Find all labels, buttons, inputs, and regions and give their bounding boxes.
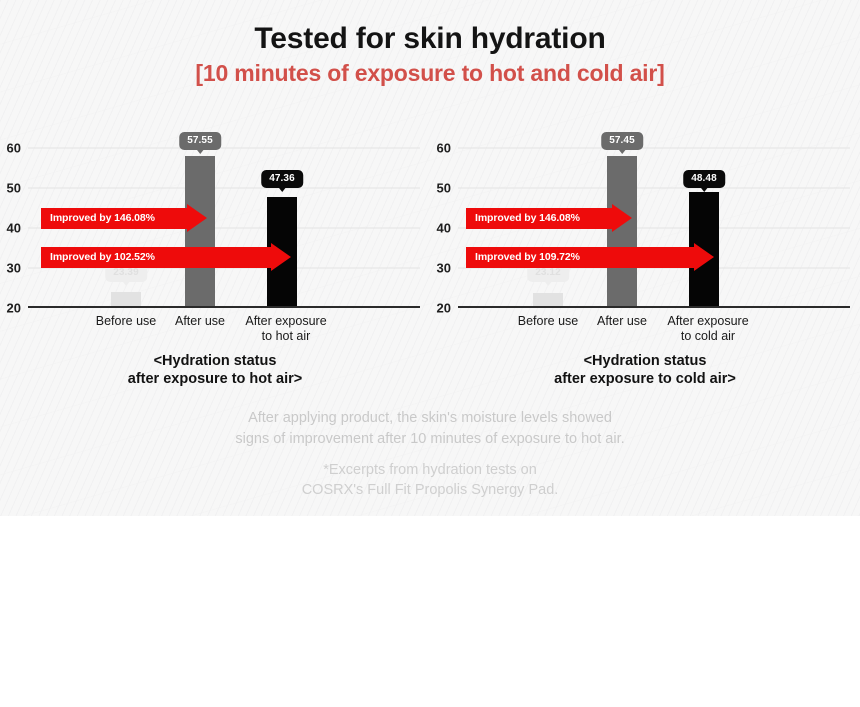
improvement-arrow-after-use-label: Improved by 146.08% [50,212,155,224]
x-label-line1: After use [597,314,647,329]
x-label-before-use: Before use [518,314,578,329]
x-label-line1: Before use [518,314,578,329]
footnote-source: *Excerpts from hydration tests on COSRX'… [0,460,860,501]
x-label-line1: After exposure [667,314,748,329]
chart-hot-air: 60 50 40 30 20 23.39 57.55 47.36 Improve… [0,148,430,388]
arrow-head-icon [187,204,207,232]
x-label-line1: After exposure [245,314,326,329]
gridline-60 [458,148,850,149]
improvement-arrow-after-exposure: Improved by 102.52% [41,243,291,271]
y-tick-30: 30 [437,261,451,276]
footnote-main-line2: signs of improvement after 10 minutes of… [0,429,860,450]
x-label-line2: to cold air [667,329,748,344]
bar-before-use [111,292,141,306]
improvement-arrow-after-use-label: Improved by 146.08% [475,212,580,224]
hydration-test-banner: Tested for skin hydration [10 minutes of… [0,0,860,516]
gridline-50 [458,188,850,189]
footnote-main-line1: After applying product, the skin's moist… [0,408,860,429]
improvement-arrow-after-use: Improved by 146.08% [466,204,632,232]
arrow-head-icon [612,204,632,232]
page-title: Tested for skin hydration [0,22,860,56]
footnotes: After applying product, the skin's moist… [0,408,860,501]
y-tick-50: 50 [7,181,21,196]
x-axis-labels-cold-air: Before use After use After exposure to c… [458,308,842,346]
improvement-arrow-after-exposure: Improved by 109.72% [466,243,714,271]
value-callout-after-use: 57.45 [601,132,643,150]
x-label-line1: Before use [96,314,156,329]
y-tick-40: 40 [7,221,21,236]
chart-caption-line1: <Hydration status [0,352,430,370]
value-callout-after-exposure: 47.36 [261,170,303,188]
chart-caption-line2: after exposure to cold air> [430,370,860,388]
page-subtitle: [10 minutes of exposure to hot and cold … [0,61,860,87]
improvement-arrow-after-use: Improved by 146.08% [41,204,207,232]
plot-area-cold-air: 60 50 40 30 20 23.12 57.45 48.48 Improve… [458,148,842,308]
arrow-head-icon [271,243,291,271]
chart-caption-hot-air: <Hydration status after exposure to hot … [0,352,430,388]
footnote-source-line1: *Excerpts from hydration tests on [0,460,860,480]
gridline-60 [28,148,420,149]
x-label-line2: to hot air [245,329,326,344]
y-tick-50: 50 [437,181,451,196]
y-tick-20: 20 [437,301,451,316]
y-tick-60: 60 [437,141,451,156]
x-label-after-exposure: After exposure to hot air [245,314,326,344]
gridline-50 [28,188,420,189]
x-label-before-use: Before use [96,314,156,329]
x-label-line1: After use [175,314,225,329]
y-tick-40: 40 [437,221,451,236]
arrow-head-icon [694,243,714,271]
improvement-arrow-after-exposure-label: Improved by 109.72% [475,251,580,263]
value-callout-after-exposure: 48.48 [683,170,725,188]
banner-header: Tested for skin hydration [10 minutes of… [0,22,860,86]
chart-cold-air: 60 50 40 30 20 23.12 57.45 48.48 Improve… [430,148,860,388]
footnote-main: After applying product, the skin's moist… [0,408,860,450]
footnote-source-line2: COSRX's Full Fit Propolis Synergy Pad. [0,480,860,500]
y-tick-20: 20 [7,301,21,316]
y-tick-30: 30 [7,261,21,276]
value-callout-after-use: 57.55 [179,132,221,150]
bar-before-use [533,293,563,306]
x-label-after-exposure: After exposure to cold air [667,314,748,344]
chart-caption-line1: <Hydration status [430,352,860,370]
chart-caption-line2: after exposure to hot air> [0,370,430,388]
improvement-arrow-after-exposure-label: Improved by 102.52% [50,251,155,263]
x-label-after-use: After use [175,314,225,329]
charts-row: 60 50 40 30 20 23.39 57.55 47.36 Improve… [0,148,860,388]
y-tick-60: 60 [7,141,21,156]
plot-area-hot-air: 60 50 40 30 20 23.39 57.55 47.36 Improve… [28,148,412,308]
chart-caption-cold-air: <Hydration status after exposure to cold… [430,352,860,388]
x-label-after-use: After use [597,314,647,329]
x-axis-labels-hot-air: Before use After use After exposure to h… [28,308,412,346]
